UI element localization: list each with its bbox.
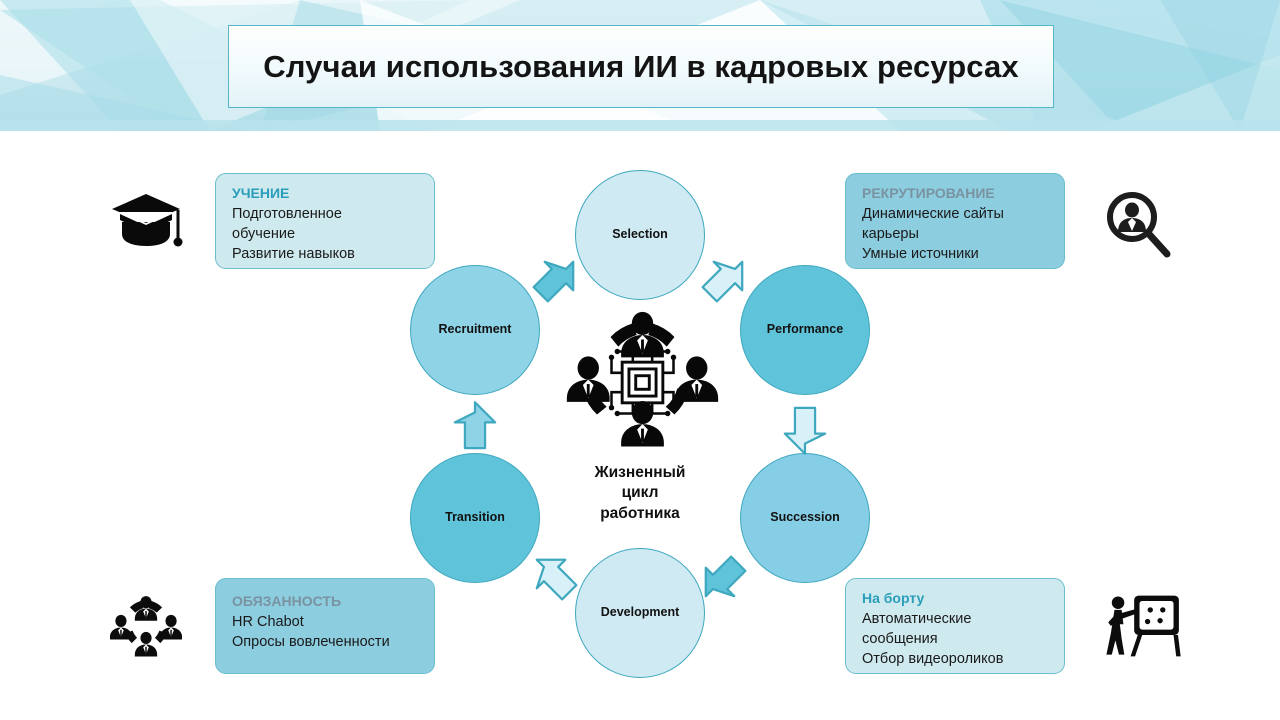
callout-heading: РЕКРУТИРОВАНИЕ <box>862 185 1051 203</box>
cycle-stage-label: Selection <box>612 228 668 242</box>
callout-line: HR Chabot <box>232 612 421 632</box>
cycle-stage-label: Performance <box>767 323 843 337</box>
callout-line: Динамические сайты <box>862 204 1051 224</box>
callout-heading: УЧЕНИЕ <box>232 185 421 203</box>
graduation-cap-icon <box>112 190 184 257</box>
callout-line: Умные источники <box>862 244 1051 264</box>
callout-line: Подготовленное <box>232 204 421 224</box>
cycle-stage-development[interactable]: Development <box>575 548 705 678</box>
callout-line: Отбор видеороликов <box>862 649 1051 669</box>
callout-heading: На борту <box>862 590 1051 608</box>
center-hub-label-line3: работника <box>555 504 725 524</box>
cycle-arrow-performance-to-succession <box>777 400 833 456</box>
cycle-stage-label: Development <box>601 606 680 620</box>
cycle-stage-transition[interactable]: Transition <box>410 453 540 583</box>
callout-heading: ОБЯЗАННОСТЬ <box>232 593 421 611</box>
center-hub-label-line1: Жизненный <box>555 463 725 483</box>
cycle-stage-succession[interactable]: Succession <box>740 453 870 583</box>
cycle-stage-label: Transition <box>445 511 505 525</box>
callout-onboarding[interactable]: На борту Автоматические сообщения Отбор … <box>845 578 1065 674</box>
callout-line: Опросы вовлеченности <box>232 632 421 652</box>
callout-line: карьеры <box>862 224 1051 244</box>
callout-line: Развитие навыков <box>232 244 421 264</box>
cycle-stage-performance[interactable]: Performance <box>740 265 870 395</box>
ai-team-network-icon <box>565 305 720 460</box>
presenter-board-icon <box>1105 592 1183 665</box>
callout-line: сообщения <box>862 629 1051 649</box>
center-hub-label-line2: цикл <box>555 483 725 503</box>
people-network-icon <box>110 593 182 666</box>
callout-learning[interactable]: УЧЕНИЕ Подготовленное обучение Развитие … <box>215 173 435 269</box>
callout-line: Автоматические <box>862 609 1051 629</box>
center-hub-label: Жизненный цикл работника <box>555 463 725 524</box>
page-title: Случаи использования ИИ в кадровых ресур… <box>263 49 1018 85</box>
callout-engagement[interactable]: ОБЯЗАННОСТЬ HR Chabot Опросы вовлеченнос… <box>215 578 435 674</box>
page-title-box: Случаи использования ИИ в кадровых ресур… <box>228 25 1054 108</box>
cycle-arrow-transition-to-recruitment <box>447 400 503 456</box>
cycle-stage-label: Succession <box>770 511 839 525</box>
cycle-stage-label: Recruitment <box>439 323 512 337</box>
callout-line: обучение <box>232 224 421 244</box>
callout-recruiting[interactable]: РЕКРУТИРОВАНИЕ Динамические сайты карьер… <box>845 173 1065 269</box>
person-search-icon <box>1103 190 1171 263</box>
